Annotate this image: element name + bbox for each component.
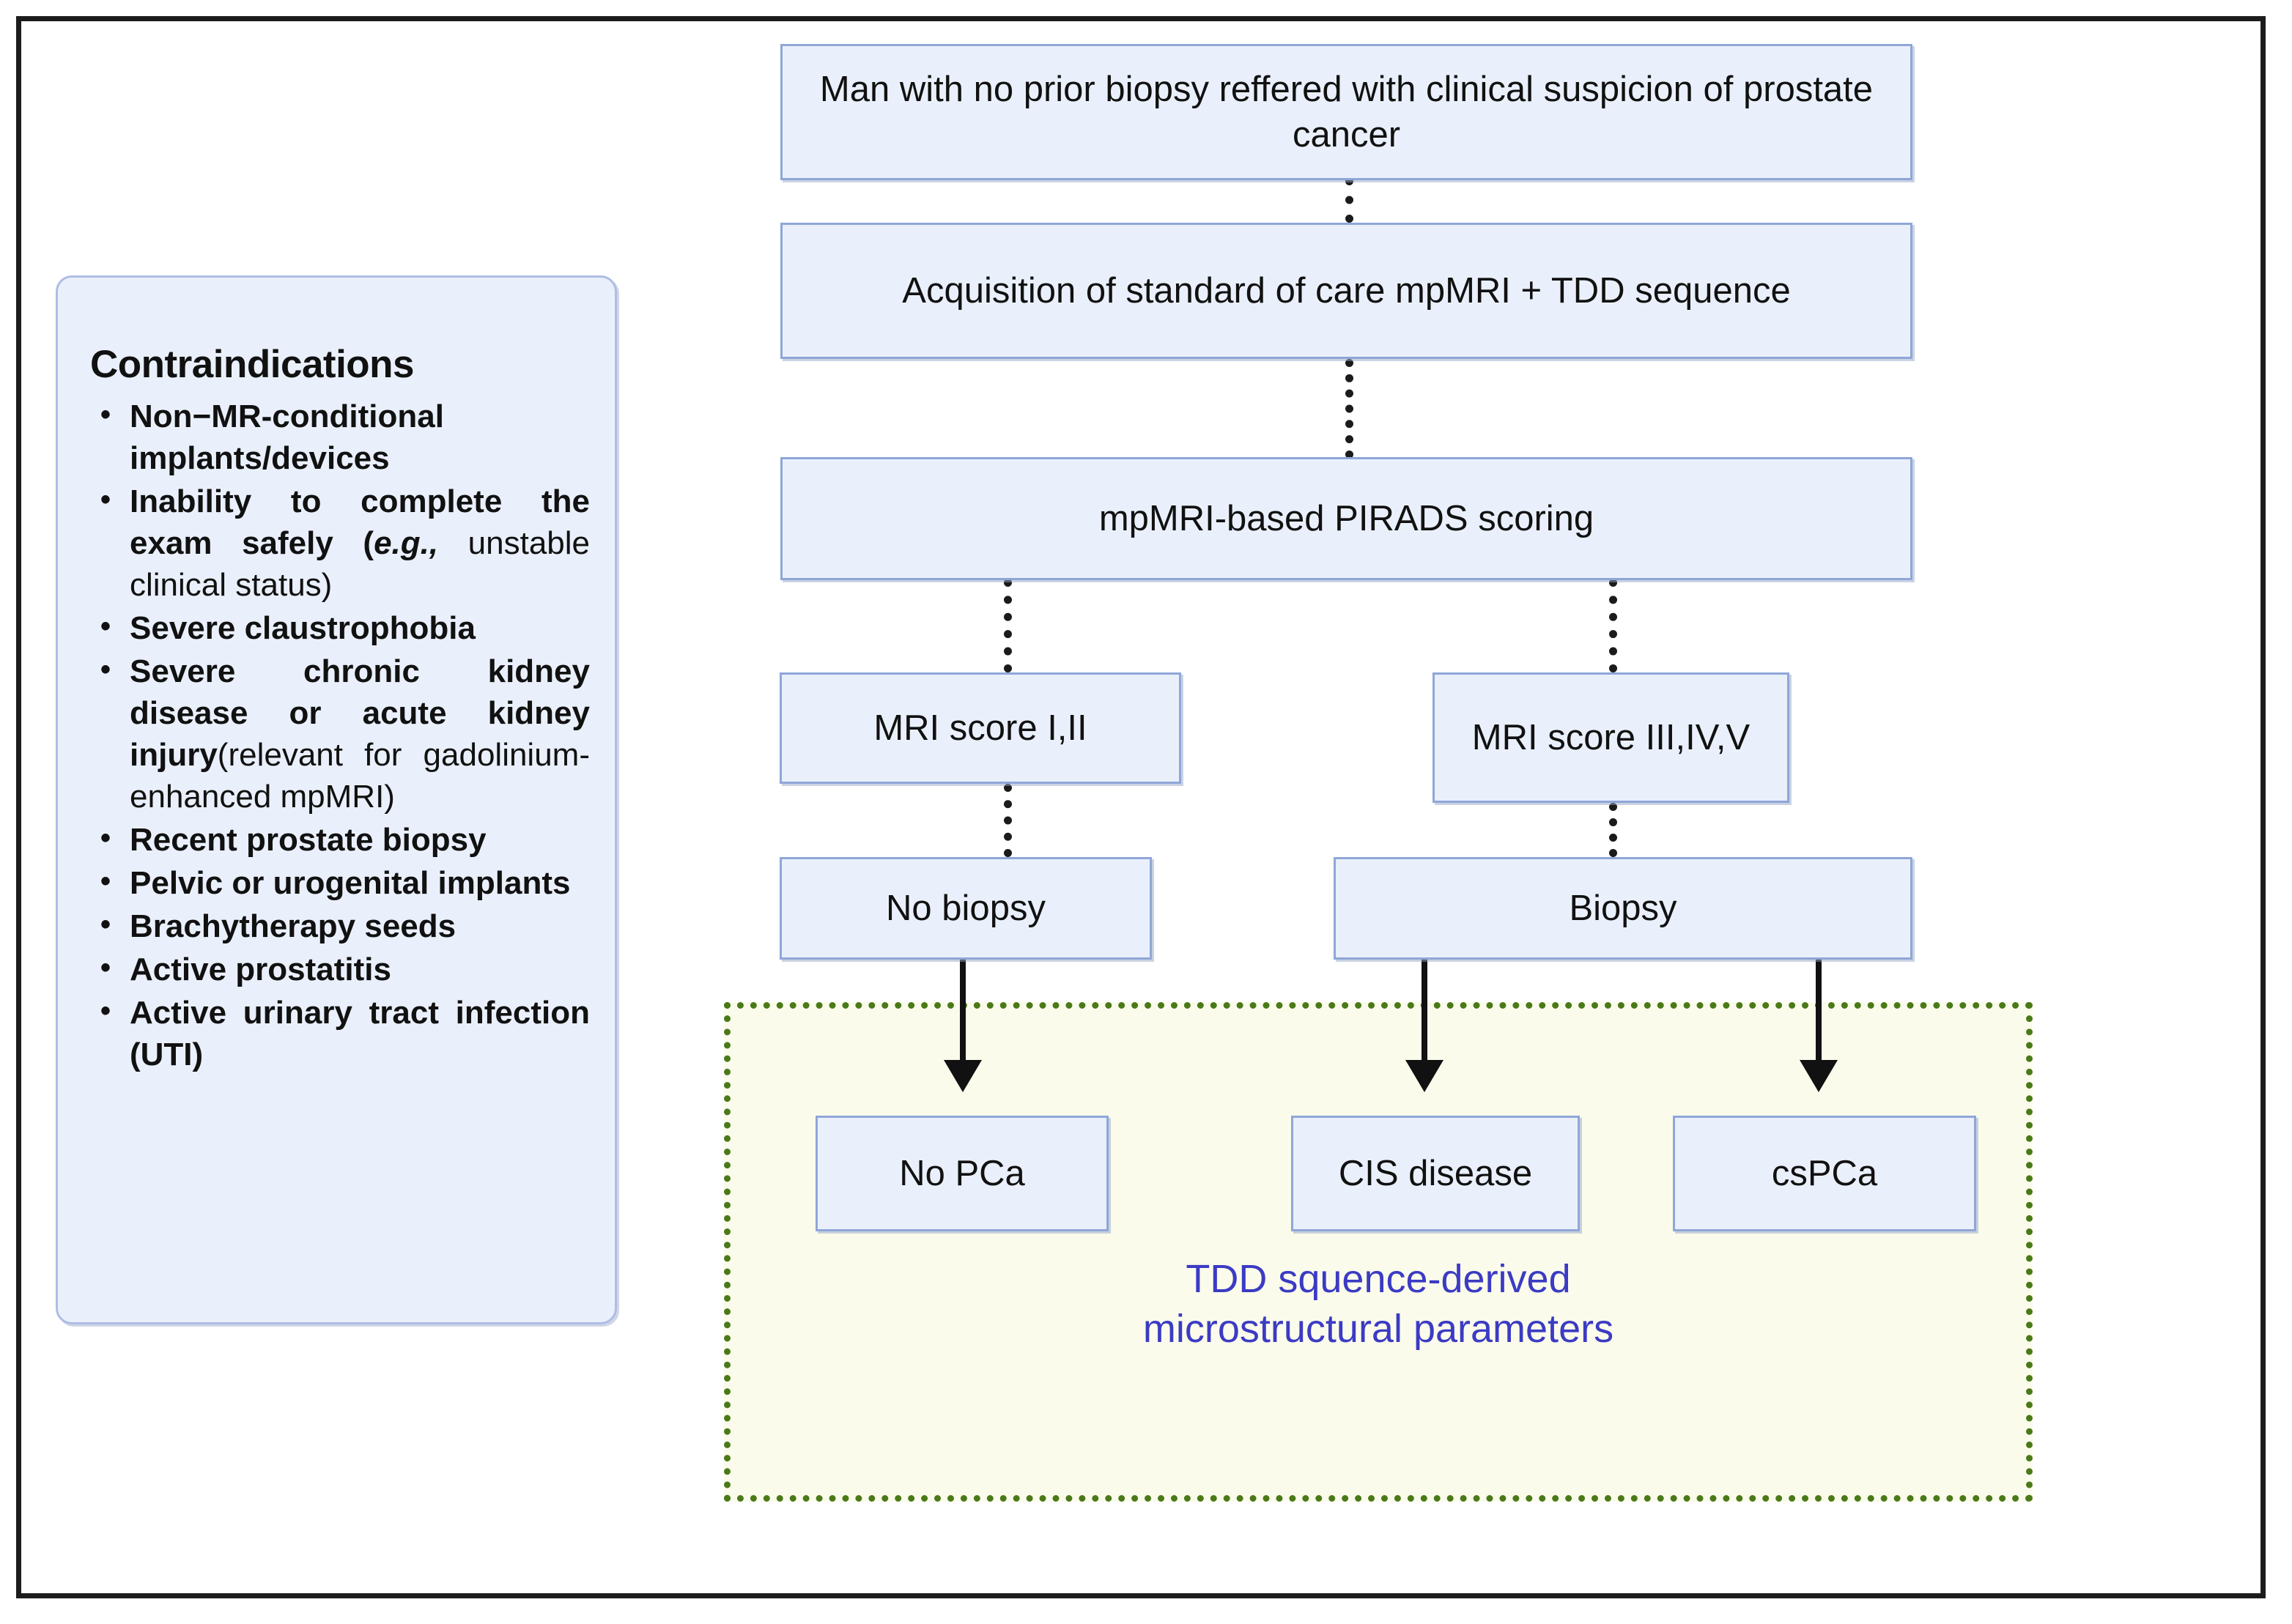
- node-mri-score-high: MRI score III,IV,V: [1432, 672, 1789, 803]
- node-acquisition-label: Acquisition of standard of care mpMRI + …: [902, 268, 1790, 314]
- arrow-head-biopsy-to-cis: [1405, 1060, 1443, 1092]
- caption-line-2: microstructural parameters: [724, 1304, 2033, 1354]
- node-biopsy-label: Biopsy: [1569, 886, 1677, 931]
- arrow-head-biopsy-to-cspca: [1800, 1060, 1838, 1092]
- item-bold-text: Active prostatitis: [130, 952, 391, 987]
- list-item: Active urinary tract infection (UTI): [130, 992, 590, 1075]
- arrow-line-biopsy-to-cis: [1422, 960, 1427, 1069]
- diagram-canvas: Contraindications Non−MR-conditional imp…: [0, 0, 2292, 1624]
- item-bold-text: Brachytherapy seeds: [130, 908, 456, 944]
- connector-scoring-to-score-high: [1609, 579, 1617, 672]
- arrow-line-no-biopsy-to-no-pca: [960, 960, 966, 1069]
- list-item: Severe chronic kidney disease or acute k…: [130, 650, 590, 817]
- node-pirads-scoring-label: mpMRI-based PIRADS scoring: [1099, 496, 1594, 541]
- node-no-pca: No PCa: [816, 1116, 1109, 1231]
- list-item: Pelvic or urogenital implants: [130, 862, 590, 904]
- contraindications-title: Contraindications: [90, 342, 590, 387]
- list-item: Non−MR-conditional implants/devices: [130, 396, 590, 479]
- connector-acquisition-to-scoring: [1345, 359, 1353, 459]
- contraindications-list: Non−MR-conditional implants/devices Inab…: [90, 396, 590, 1075]
- node-no-biopsy: No biopsy: [780, 857, 1152, 960]
- connector-scoring-to-score-low: [1004, 579, 1012, 672]
- connector-score-high-to-biopsy: [1609, 803, 1617, 857]
- arrow-line-biopsy-to-cspca: [1816, 960, 1822, 1069]
- list-item: Brachytherapy seeds: [130, 905, 590, 947]
- node-no-biopsy-label: No biopsy: [886, 886, 1046, 931]
- tdd-region-caption: TDD squence-derived microstructural para…: [724, 1254, 2033, 1354]
- node-referral-label: Man with no prior biopsy reffered with c…: [793, 67, 1900, 157]
- node-cis-disease: CIS disease: [1291, 1116, 1580, 1231]
- node-cspca-label: csPCa: [1772, 1151, 1877, 1196]
- item-bold-text: Severe claustrophobia: [130, 610, 476, 646]
- caption-line-1: TDD squence-derived: [724, 1254, 2033, 1304]
- item-bold-text: Non−MR-conditional implants/devices: [130, 398, 444, 476]
- node-cspca: csPCa: [1673, 1116, 1976, 1231]
- node-mri-score-low-label: MRI score I,II: [873, 705, 1087, 751]
- item-bold-text: Active urinary tract infection (UTI): [130, 995, 590, 1072]
- arrow-head-no-biopsy-to-no-pca: [944, 1060, 982, 1092]
- item-bold-text: Pelvic or urogenital implants: [130, 865, 570, 901]
- connector-score-low-to-no-biopsy: [1004, 784, 1012, 857]
- node-acquisition: Acquisition of standard of care mpMRI + …: [780, 223, 1912, 359]
- list-item: Inability to complete the exam safely (e…: [130, 481, 590, 606]
- list-item: Active prostatitis: [130, 949, 590, 990]
- item-bold-text: Recent prostate biopsy: [130, 822, 487, 858]
- node-mri-score-low: MRI score I,II: [780, 672, 1181, 784]
- node-referral: Man with no prior biopsy reffered with c…: [780, 44, 1912, 180]
- item-italic-text: e.g.,: [374, 525, 438, 561]
- node-biopsy: Biopsy: [1334, 857, 1912, 960]
- node-no-pca-label: No PCa: [899, 1151, 1025, 1196]
- node-pirads-scoring: mpMRI-based PIRADS scoring: [780, 457, 1912, 580]
- list-item: Recent prostate biopsy: [130, 819, 590, 861]
- contraindications-panel: Contraindications Non−MR-conditional imp…: [56, 275, 617, 1324]
- node-cis-disease-label: CIS disease: [1339, 1151, 1532, 1196]
- list-item: Severe claustrophobia: [130, 607, 590, 649]
- connector-referral-to-acquisition: [1345, 177, 1353, 223]
- node-mri-score-high-label: MRI score III,IV,V: [1472, 715, 1750, 760]
